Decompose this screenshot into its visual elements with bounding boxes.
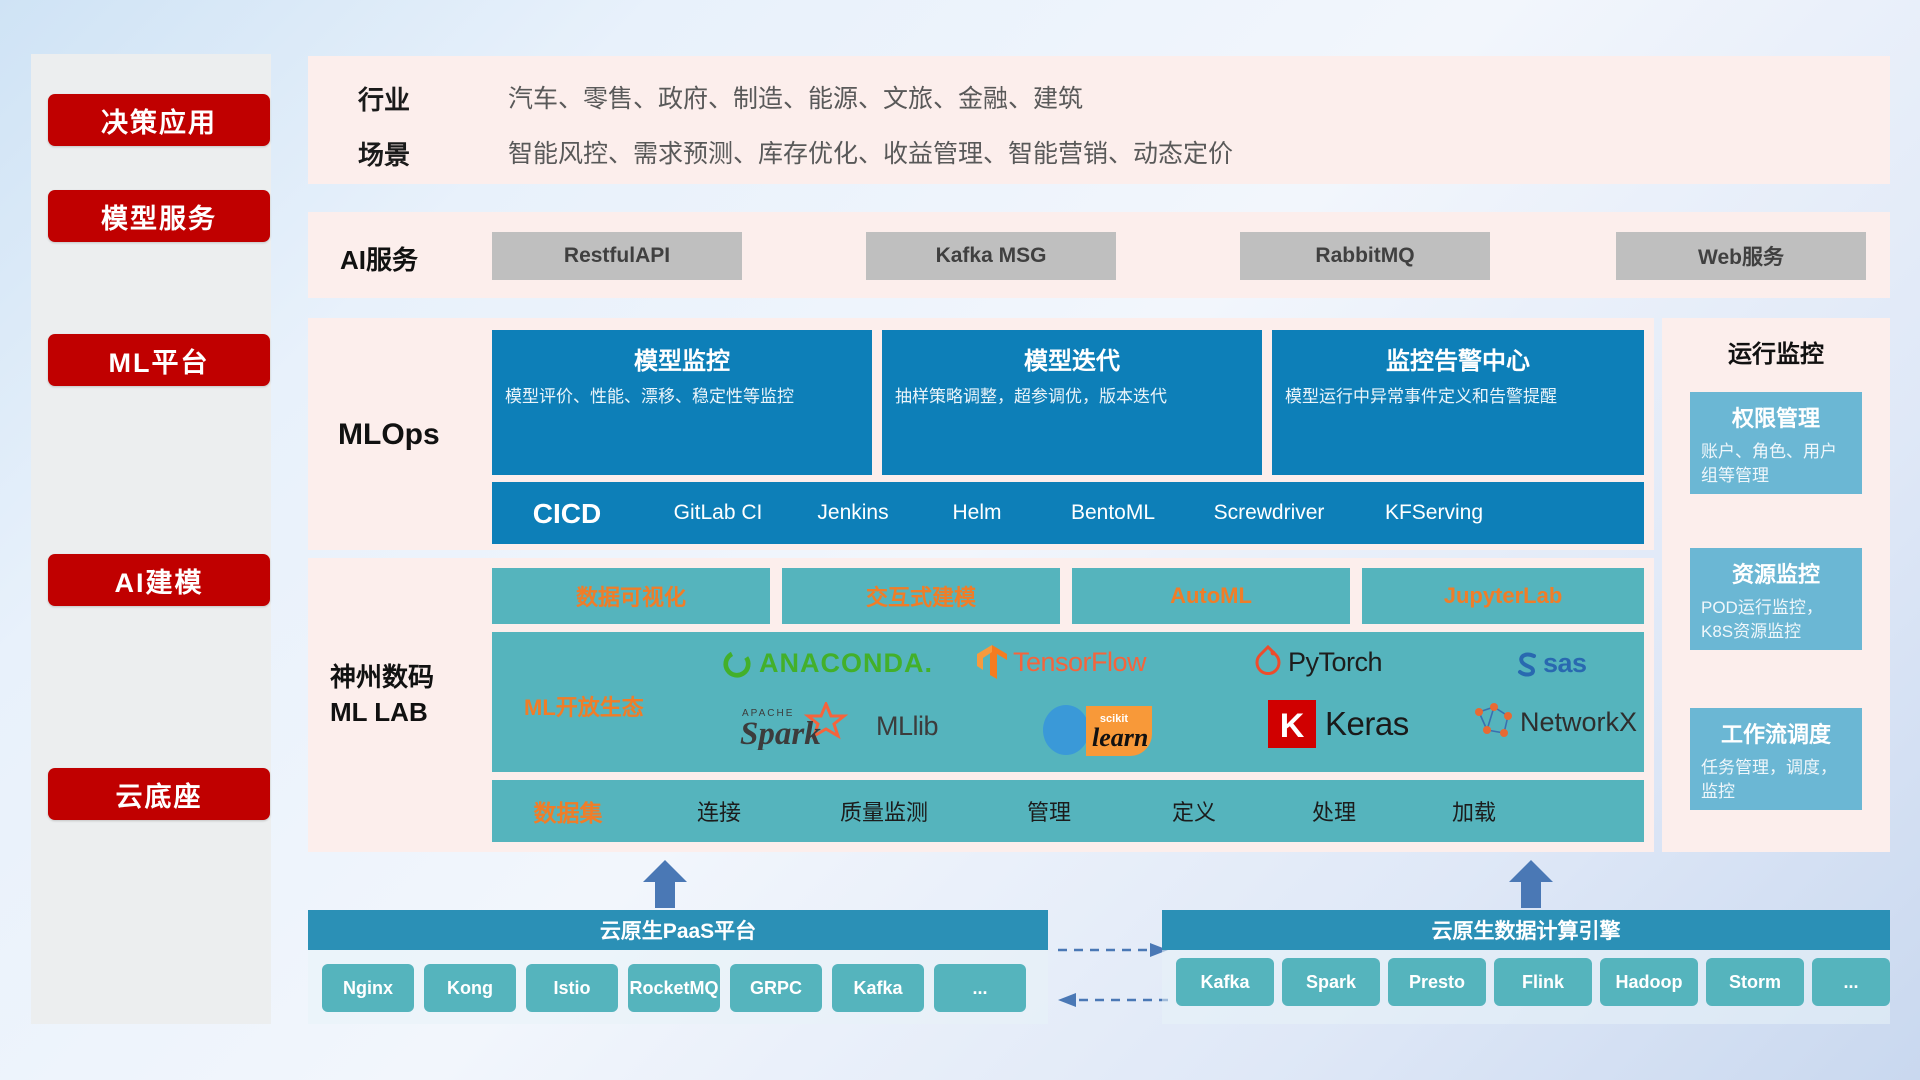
- monitor-card-desc: 账户、角色、用户组等管理: [1701, 440, 1851, 488]
- scikit-learn-logo: scikit learn: [1040, 700, 1170, 756]
- mlops-card-desc: 抽样策略调整，超参调优，版本迭代: [895, 385, 1249, 408]
- engine-chip-hadoop[interactable]: Hadoop: [1600, 958, 1698, 1006]
- monitor-card-title: 资源监控: [1701, 557, 1851, 589]
- monitor-title: 运行监控: [1662, 334, 1890, 369]
- paas-title: 云原生PaaS平台: [308, 910, 1048, 950]
- scenario-label: 场景: [358, 135, 410, 175]
- mlops-card-model-iteration[interactable]: 模型迭代 抽样策略调整，超参调优，版本迭代: [882, 330, 1262, 475]
- mlops-card-desc: 模型运行中异常事件定义和告警提醒: [1285, 385, 1631, 408]
- svg-text:learn: learn: [1092, 723, 1148, 752]
- service-chip-restfulapi[interactable]: RestfulAPI: [492, 232, 742, 280]
- scenario-text: 智能风控、需求预测、库存优化、收益管理、智能营销、动态定价: [508, 135, 1233, 174]
- engine-chip-more[interactable]: ...: [1812, 958, 1890, 1006]
- cicd-item-kfserving[interactable]: KFServing: [1354, 482, 1514, 524]
- dataset-label: 数据集: [492, 794, 644, 828]
- engine-chip-kafka[interactable]: Kafka: [1176, 958, 1274, 1006]
- paas-chip-istio[interactable]: Istio: [526, 964, 618, 1012]
- paas-chip-rocketmq[interactable]: RocketMQ: [628, 964, 720, 1012]
- paas-chip-nginx[interactable]: Nginx: [322, 964, 414, 1012]
- service-chip-kafka-msg[interactable]: Kafka MSG: [866, 232, 1116, 280]
- mlops-card-title: 监控告警中心: [1285, 341, 1631, 376]
- stage-label: 云底座: [116, 775, 203, 814]
- service-chip-web[interactable]: Web服务: [1616, 232, 1866, 280]
- stage-chip-model-service[interactable]: 模型服务: [48, 190, 270, 242]
- engine-chip-spark[interactable]: Spark: [1282, 958, 1380, 1006]
- cicd-label: CICD: [492, 482, 642, 530]
- pytorch-label: PyTorch: [1288, 647, 1382, 678]
- ml-lab-label-line1: 神州数码: [330, 662, 434, 692]
- engine-title: 云原生数据计算引擎: [1162, 910, 1890, 950]
- sas-label: sas: [1543, 648, 1587, 679]
- cicd-item-bentoml[interactable]: BentoML: [1042, 482, 1184, 524]
- service-chip-label: Web服务: [1698, 241, 1784, 271]
- service-chip-label: RestfulAPI: [564, 244, 670, 268]
- paas-chip-grpc[interactable]: GRPC: [730, 964, 822, 1012]
- engine-chip-storm[interactable]: Storm: [1706, 958, 1804, 1006]
- architecture-diagram: 决策应用 模型服务 ML平台 AI建模 云底座 行业 汽车、零售、政府、制造、能…: [0, 0, 1920, 1080]
- tensorflow-label: TensorFlow: [1013, 647, 1146, 678]
- svg-text:Spark: Spark: [740, 716, 821, 750]
- sas-logo: sas: [1512, 648, 1587, 679]
- ml-lab-label: 神州数码 ML LAB: [330, 660, 434, 730]
- ai-service-label: AI服务: [340, 240, 418, 277]
- dataset-item-manage[interactable]: 管理: [974, 795, 1124, 827]
- mlops-card-title: 模型迭代: [895, 341, 1249, 376]
- dataset-item-load[interactable]: 加载: [1404, 795, 1544, 827]
- networkx-logo: NetworkX: [1470, 700, 1637, 744]
- lab-tool-label: JupyterLab: [1444, 583, 1563, 609]
- stage-label: 决策应用: [101, 101, 217, 140]
- arrow-up-paas: [640, 858, 690, 913]
- industry-text: 汽车、零售、政府、制造、能源、文旅、金融、建筑: [508, 80, 1083, 119]
- cicd-item-gitlab-ci[interactable]: GitLab CI: [642, 482, 794, 524]
- dataset-item-define[interactable]: 定义: [1124, 795, 1264, 827]
- engine-chip-flink[interactable]: Flink: [1494, 958, 1592, 1006]
- tensorflow-logo: TensorFlow: [975, 643, 1146, 681]
- paas-chip-kong[interactable]: Kong: [424, 964, 516, 1012]
- industry-label: 行业: [358, 80, 410, 120]
- cicd-bar: CICD GitLab CI Jenkins Helm BentoML Scre…: [492, 482, 1644, 544]
- paas-chip-more[interactable]: ...: [934, 964, 1026, 1012]
- svg-text:K: K: [1280, 707, 1305, 745]
- stage-chip-ml-platform[interactable]: ML平台: [48, 334, 270, 386]
- ml-ecosystem-label: ML开放生态: [524, 690, 644, 722]
- bidirectional-link-arrows: [1056, 940, 1170, 1012]
- cicd-item-screwdriver[interactable]: Screwdriver: [1184, 482, 1354, 524]
- lab-tool-data-visualization[interactable]: 数据可视化: [492, 568, 770, 624]
- dataset-item-process[interactable]: 处理: [1264, 795, 1404, 827]
- lab-tool-label: 交互式建模: [866, 580, 976, 612]
- mlops-card-desc: 模型评价、性能、漂移、稳定性等监控: [505, 385, 859, 408]
- lab-tool-label: 数据可视化: [576, 580, 686, 612]
- service-chip-rabbitmq[interactable]: RabbitMQ: [1240, 232, 1490, 280]
- monitor-card-resource[interactable]: 资源监控 POD运行监控，K8S资源监控: [1690, 548, 1862, 650]
- lab-tool-automl[interactable]: AutoML: [1072, 568, 1350, 624]
- monitor-card-title: 权限管理: [1701, 401, 1851, 433]
- networkx-label: NetworkX: [1520, 707, 1637, 738]
- anaconda-label: ANACONDA.: [759, 648, 933, 679]
- anaconda-logo: ANACONDA.: [722, 648, 933, 679]
- stage-label: ML平台: [109, 341, 210, 380]
- dataset-bar: 数据集 连接 质量监测 管理 定义 处理 加载: [492, 780, 1644, 842]
- lab-tool-interactive-modeling[interactable]: 交互式建模: [782, 568, 1060, 624]
- mlops-label: MLOps: [338, 418, 440, 452]
- dataset-item-quality[interactable]: 质量监测: [794, 795, 974, 827]
- cicd-item-jenkins[interactable]: Jenkins: [794, 482, 912, 524]
- monitor-card-workflow[interactable]: 工作流调度 任务管理，调度，监控: [1690, 708, 1862, 810]
- mlops-card-alert-center[interactable]: 监控告警中心 模型运行中异常事件定义和告警提醒: [1272, 330, 1644, 475]
- mlops-card-model-monitoring[interactable]: 模型监控 模型评价、性能、漂移、稳定性等监控: [492, 330, 872, 475]
- keras-label: Keras: [1325, 705, 1409, 743]
- ml-lab-label-line2: ML LAB: [330, 697, 428, 727]
- engine-chip-presto[interactable]: Presto: [1388, 958, 1486, 1006]
- lab-tool-jupyterlab[interactable]: JupyterLab: [1362, 568, 1644, 624]
- stage-chip-cloud-base[interactable]: 云底座: [48, 768, 270, 820]
- keras-logo: K Keras: [1268, 700, 1409, 748]
- monitor-card-permission[interactable]: 权限管理 账户、角色、用户组等管理: [1690, 392, 1862, 494]
- stage-label: AI建模: [115, 561, 204, 600]
- monitor-card-desc: POD运行监控，K8S资源监控: [1701, 596, 1851, 644]
- arrow-up-engine: [1506, 858, 1556, 913]
- service-chip-label: Kafka MSG: [936, 244, 1047, 268]
- lab-tool-label: AutoML: [1170, 583, 1252, 609]
- stage-chip-ai-modeling[interactable]: AI建模: [48, 554, 270, 606]
- stage-label: 模型服务: [101, 197, 217, 236]
- service-chip-label: RabbitMQ: [1315, 244, 1414, 268]
- spark-mllib-logo: APACHE Spark MLlib: [740, 702, 938, 750]
- dataset-item-connect[interactable]: 连接: [644, 795, 794, 827]
- monitor-card-desc: 任务管理，调度，监控: [1701, 756, 1851, 804]
- mlops-card-title: 模型监控: [505, 341, 859, 376]
- monitor-card-title: 工作流调度: [1701, 717, 1851, 749]
- stage-chip-application[interactable]: 决策应用: [48, 94, 270, 146]
- cicd-item-helm[interactable]: Helm: [912, 482, 1042, 524]
- paas-chip-kafka[interactable]: Kafka: [832, 964, 924, 1012]
- pytorch-logo: PyTorch: [1253, 645, 1382, 679]
